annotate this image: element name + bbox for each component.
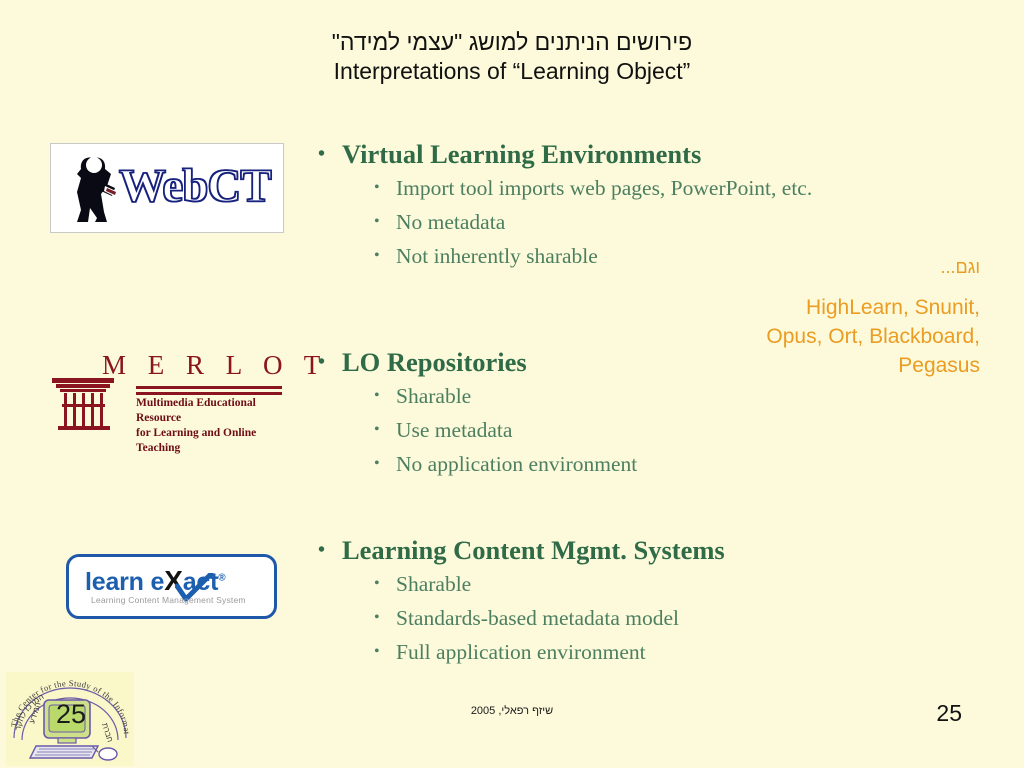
content-group-virtual-learning-environments: • Virtual Learning Environments • Import…: [318, 137, 812, 273]
merlot-tagline-line-2: for Learning and Online Teaching: [136, 426, 286, 456]
center-logo-overlay-number: 25: [56, 699, 86, 730]
bullet-icon: •: [374, 379, 396, 413]
group-heading-label: Virtual Learning Environments: [342, 137, 701, 171]
list-item: • Use metadata: [374, 413, 637, 447]
list-item: • Not inherently sharable: [374, 239, 812, 273]
learn-exact-logo: learn eXact® Learning Content Management…: [66, 554, 277, 619]
list-item: • Standards-based metadata model: [374, 601, 725, 635]
bullet-icon: •: [374, 601, 396, 635]
list-item-label: Not inherently sharable: [396, 239, 598, 273]
content-group-learning-content-mgmt-systems: • Learning Content Mgmt. Systems • Shara…: [318, 533, 725, 669]
list-item-label: Import tool imports web pages, PowerPoin…: [396, 171, 812, 205]
group-heading-label: LO Repositories: [342, 345, 527, 379]
page-title-hebrew: פירושים הניתנים למושג "עצמי למידה": [0, 28, 1024, 57]
bullet-icon: •: [374, 635, 396, 669]
list-item: • No application environment: [374, 447, 637, 481]
list-item-label: Standards-based metadata model: [396, 601, 679, 635]
group-heading: • Learning Content Mgmt. Systems: [318, 533, 725, 567]
bullet-icon: •: [374, 171, 396, 205]
registered-mark: ®: [218, 573, 225, 584]
side-note-names: HighLearn, Snunit, Opus, Ort, Blackboard…: [748, 293, 980, 380]
merlot-tagline: Multimedia Educational Resource for Lear…: [136, 396, 286, 456]
list-item-label: No application environment: [396, 447, 637, 481]
page-number: 25: [936, 700, 962, 727]
webct-wordmark: WebCT: [119, 156, 271, 216]
side-note-prefix: וגם...: [748, 255, 980, 279]
merlot-wordmark: M E R L O T: [102, 350, 328, 381]
list-item-label: Sharable: [396, 567, 471, 601]
list-item: • Full application environment: [374, 635, 725, 669]
footer-credit: שיזף רפאלי, 2005: [0, 705, 1024, 717]
list-item-label: Use metadata: [396, 413, 512, 447]
merlot-tagline-line-1: Multimedia Educational Resource: [136, 396, 286, 426]
page-title-english: Interpretations of “Learning Object”: [0, 57, 1024, 86]
list-item-label: No metadata: [396, 205, 505, 239]
side-note: וגם... HighLearn, Snunit, Opus, Ort, Bla…: [748, 255, 980, 380]
list-item-label: Full application environment: [396, 635, 646, 669]
group-heading: • LO Repositories: [318, 345, 637, 379]
learn-exact-wordmark-pre: learn e: [85, 568, 164, 596]
page-title: פירושים הניתנים למושג "עצמי למידה" Inter…: [0, 28, 1024, 86]
bullet-icon: •: [318, 345, 342, 379]
classical-column-icon: [50, 378, 122, 435]
merlot-divider-top: [136, 386, 282, 389]
webct-logo: WebCT: [50, 143, 284, 233]
svg-text:חברת: חברת: [100, 722, 115, 743]
bullet-icon: •: [374, 567, 396, 601]
information-society-center-logo: The Center for the Study of the Informat…: [6, 672, 134, 766]
list-item: • Sharable: [374, 567, 725, 601]
content-group-lo-repositories: • LO Repositories • Sharable • Use metad…: [318, 345, 637, 481]
bullet-icon: •: [318, 137, 342, 171]
learn-exact-tagline: Learning Content Management System: [91, 595, 246, 605]
bullet-icon: •: [374, 413, 396, 447]
bullet-icon: •: [374, 447, 396, 481]
merlot-divider-bottom: [136, 392, 282, 395]
bullet-icon: •: [318, 533, 342, 567]
bullet-icon: •: [374, 205, 396, 239]
group-heading: • Virtual Learning Environments: [318, 137, 812, 171]
list-item: • Sharable: [374, 379, 637, 413]
list-item: • Import tool imports web pages, PowerPo…: [374, 171, 812, 205]
merlot-logo: M E R L O T Multimedia Educational Resou…: [50, 352, 283, 430]
list-item-label: Sharable: [396, 379, 471, 413]
list-item: • No metadata: [374, 205, 812, 239]
bullet-icon: •: [374, 239, 396, 273]
group-heading-label: Learning Content Mgmt. Systems: [342, 533, 725, 567]
